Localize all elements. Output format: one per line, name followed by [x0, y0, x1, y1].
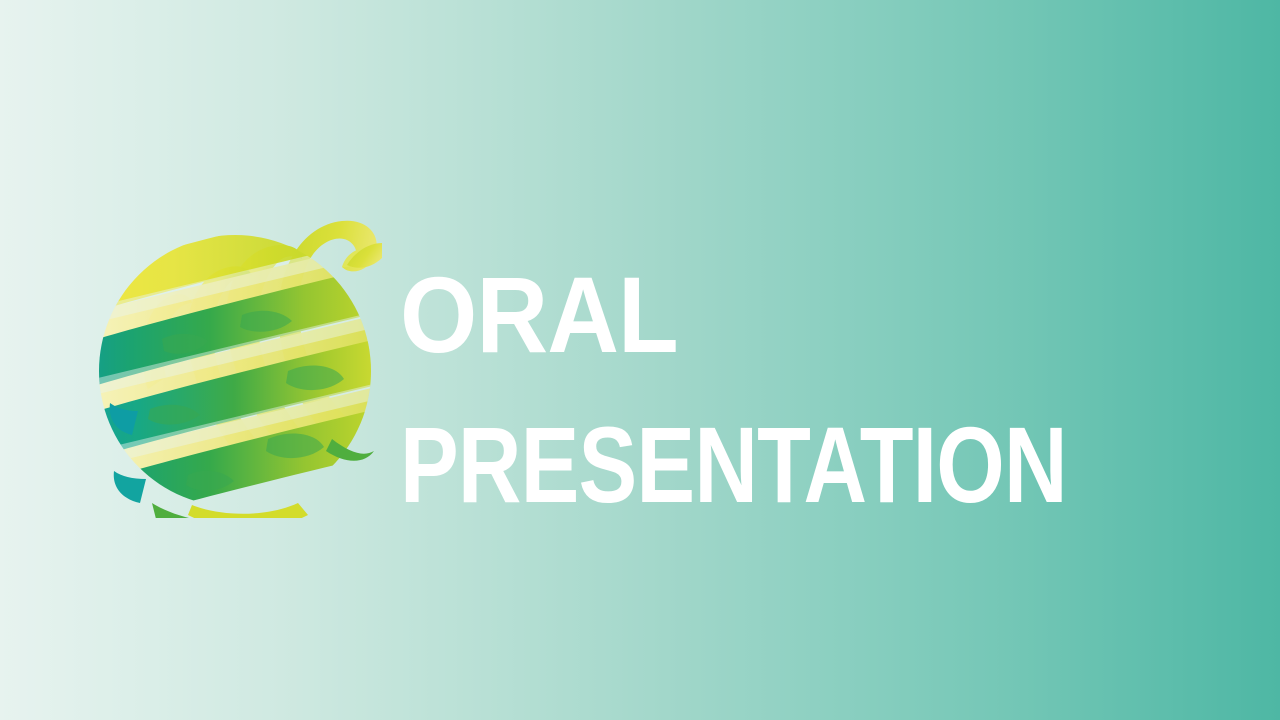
logo-tip-left-mid	[114, 471, 146, 503]
title-line-presentation: PRESENTATION	[400, 390, 1052, 540]
slide-title-block: ORAL PRESENTATION	[400, 240, 1200, 540]
title-line-oral: ORAL	[400, 240, 1136, 390]
presentation-slide: ORAL PRESENTATION	[0, 0, 1280, 720]
logo-tip-bottom-yellow	[188, 503, 308, 518]
logo-globe-bands	[92, 203, 382, 518]
globe-logo-svg	[92, 203, 382, 518]
globe-ribbon-logo	[92, 203, 382, 518]
